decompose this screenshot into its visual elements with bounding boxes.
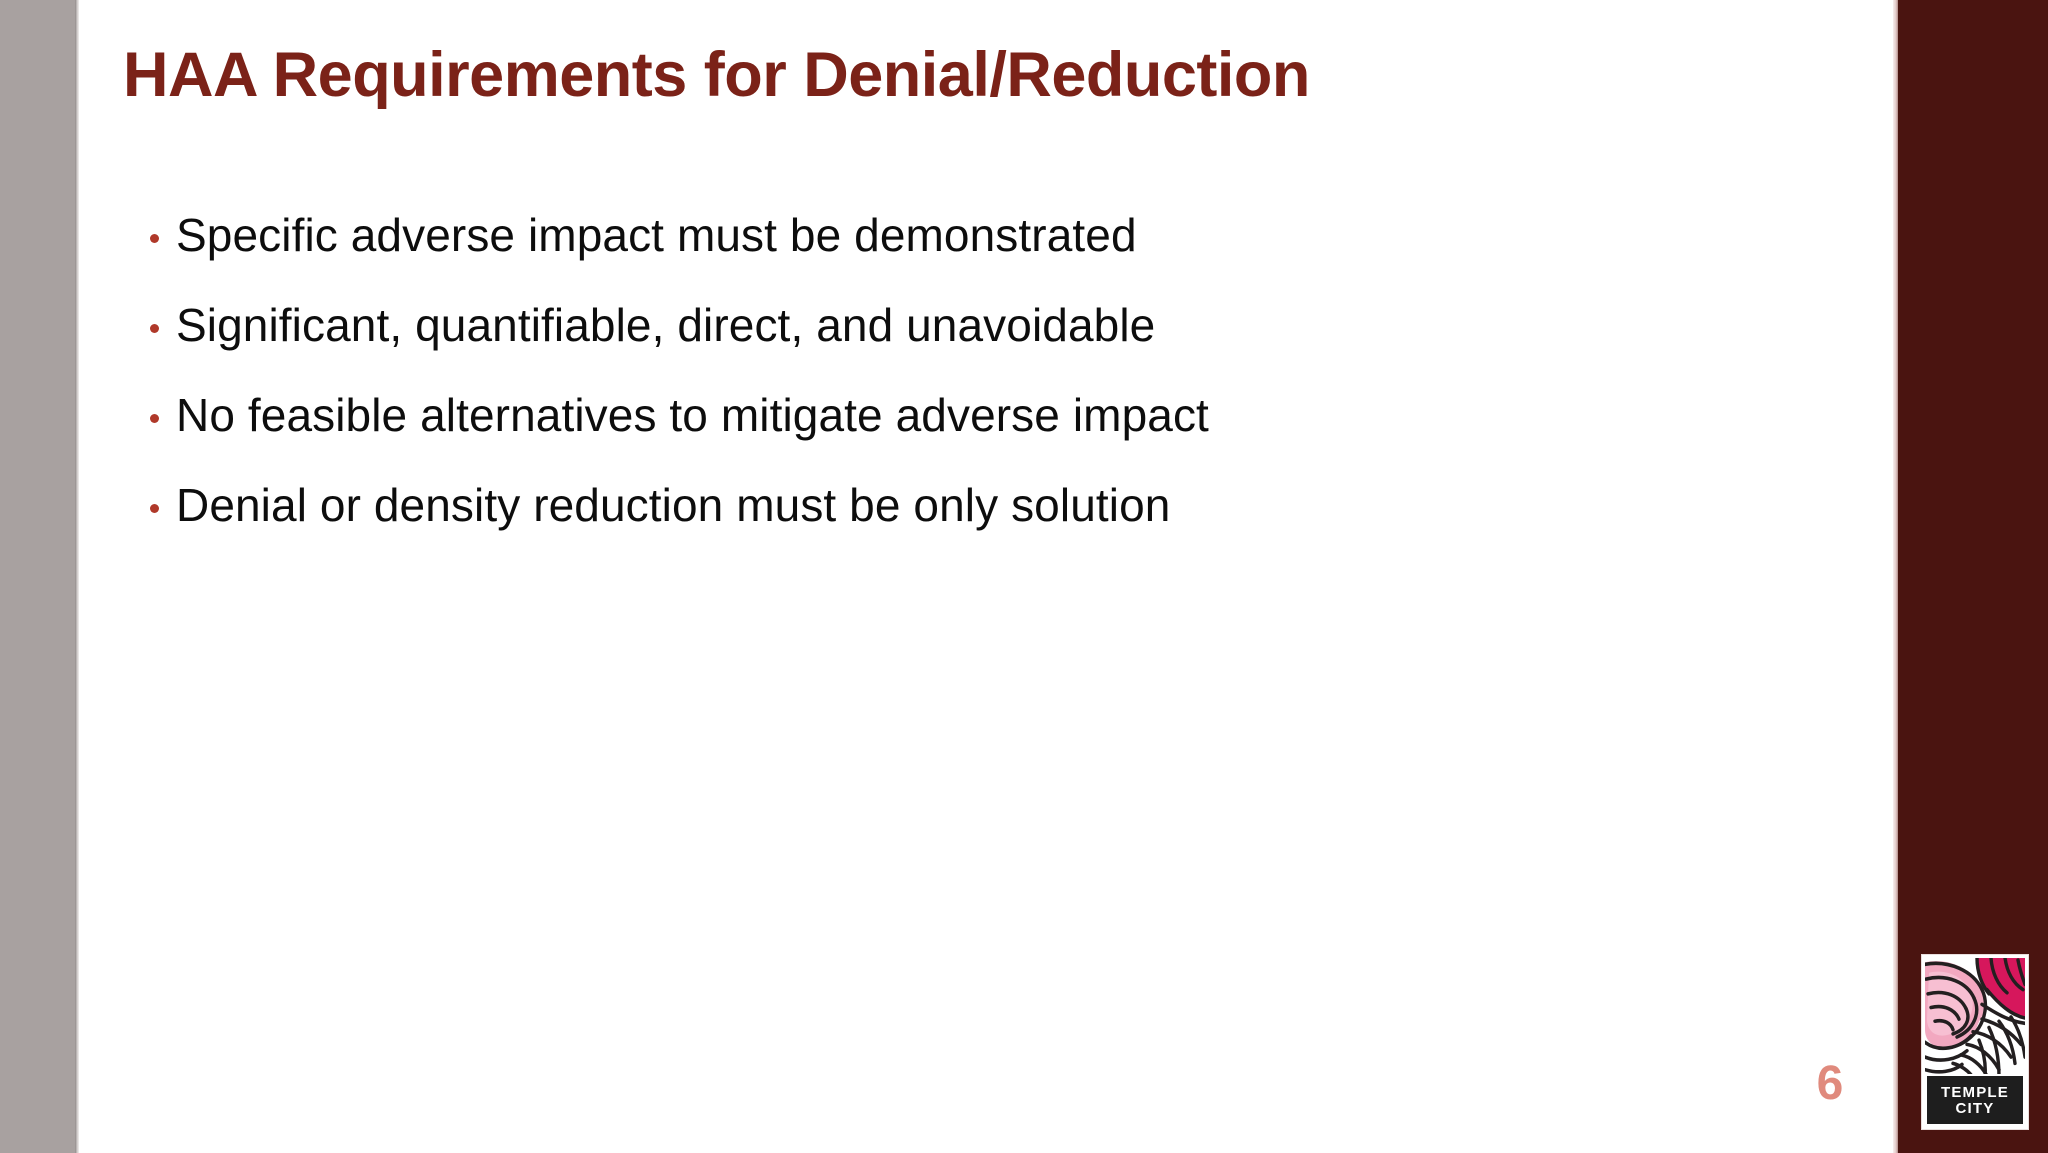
logo-caption-line-1: TEMPLE bbox=[1941, 1085, 2009, 1100]
list-item: Denial or density reduction must be only… bbox=[150, 482, 1830, 572]
page-number: 6 bbox=[1800, 1060, 1860, 1108]
list-item-label: Significant, quantifiable, direct, and u… bbox=[176, 302, 1830, 348]
bullet-dot-icon bbox=[150, 310, 176, 338]
left-decorative-band bbox=[0, 0, 75, 1153]
logo-caption-line-2: CITY bbox=[1956, 1101, 1995, 1116]
list-item: Specific adverse impact must be demonstr… bbox=[150, 212, 1830, 302]
rose-icon bbox=[1925, 958, 2025, 1076]
list-item-label: Specific adverse impact must be demonstr… bbox=[176, 212, 1830, 258]
list-item: No feasible alternatives to mitigate adv… bbox=[150, 392, 1830, 482]
bullet-dot-icon bbox=[150, 220, 176, 248]
list-item-label: Denial or density reduction must be only… bbox=[176, 482, 1830, 528]
list-item: Significant, quantifiable, direct, and u… bbox=[150, 302, 1830, 392]
presentation-slide: HAA Requirements for Denial/Reduction Sp… bbox=[0, 0, 2048, 1153]
list-item-label: No feasible alternatives to mitigate adv… bbox=[176, 392, 1830, 438]
logo-caption: TEMPLE CITY bbox=[1925, 1074, 2025, 1126]
temple-city-logo: TEMPLE CITY bbox=[1921, 954, 2029, 1130]
slide-title: HAA Requirements for Denial/Reduction bbox=[123, 41, 1823, 109]
logo-inner: TEMPLE CITY bbox=[1925, 958, 2025, 1126]
left-band-edge-highlight bbox=[75, 0, 79, 1153]
bullet-dot-icon bbox=[150, 400, 176, 428]
bullet-dot-icon bbox=[150, 490, 176, 518]
bullet-list: Specific adverse impact must be demonstr… bbox=[150, 212, 1830, 572]
